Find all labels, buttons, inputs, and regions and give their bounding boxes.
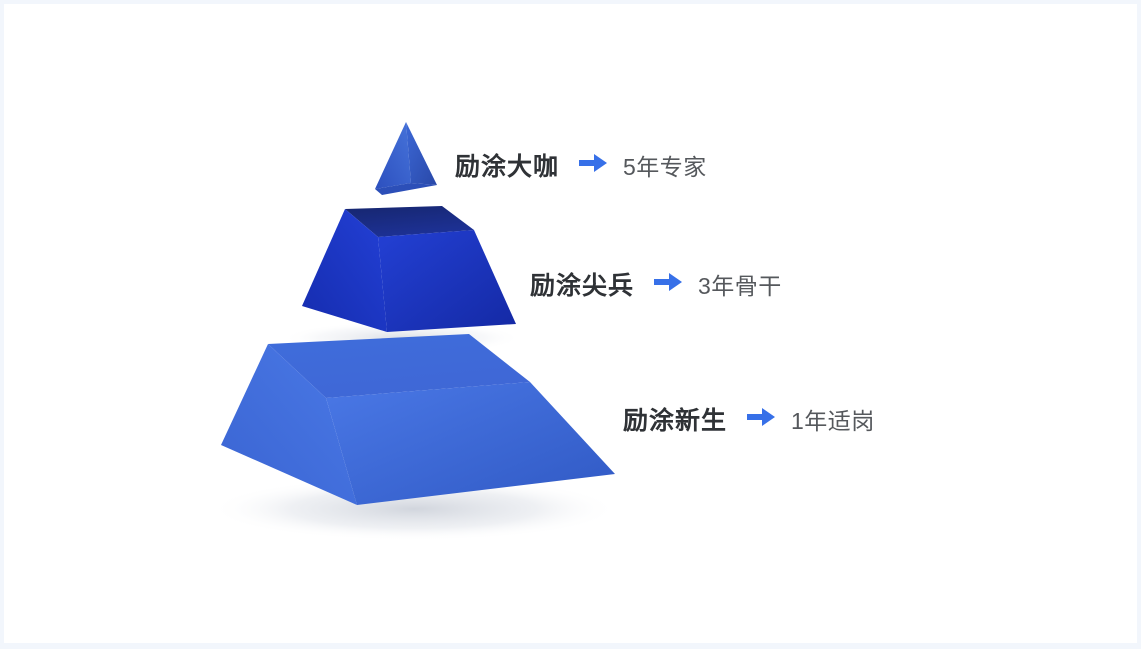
tier-row-top[interactable]: 励涂大咖 5年专家 bbox=[455, 147, 707, 183]
pyramid-tier-bottom bbox=[221, 334, 615, 505]
pyramid-tier-top bbox=[375, 122, 437, 195]
tier-desc-middle: 3年骨干 bbox=[698, 267, 782, 301]
tier-bottom-right-face bbox=[326, 382, 615, 505]
arrow-right-icon bbox=[578, 152, 608, 179]
tier-label-middle: 励涂尖兵 bbox=[530, 266, 634, 302]
tier-row-middle[interactable]: 励涂尖兵 3年骨干 bbox=[530, 266, 782, 302]
tier-label-top: 励涂大咖 bbox=[455, 147, 559, 183]
pyramid-tier-middle bbox=[302, 206, 516, 332]
pyramid-graphic bbox=[4, 4, 1137, 643]
tier-row-bottom[interactable]: 励涂新生 1年适岗 bbox=[623, 401, 875, 437]
diagram-canvas: 励涂大咖 5年专家 励涂尖兵 3年骨干 励涂新生 1年适岗 bbox=[4, 4, 1137, 643]
tier-label-bottom: 励涂新生 bbox=[623, 401, 727, 437]
tier-desc-bottom: 1年适岗 bbox=[791, 402, 875, 436]
arrow-right-icon bbox=[653, 271, 683, 298]
tier-top-right-face bbox=[406, 122, 437, 185]
tier-desc-top: 5年专家 bbox=[623, 148, 707, 182]
tier-middle-right-face bbox=[378, 230, 516, 332]
arrow-right-icon bbox=[746, 406, 776, 433]
tier-top-left-face bbox=[375, 122, 411, 189]
